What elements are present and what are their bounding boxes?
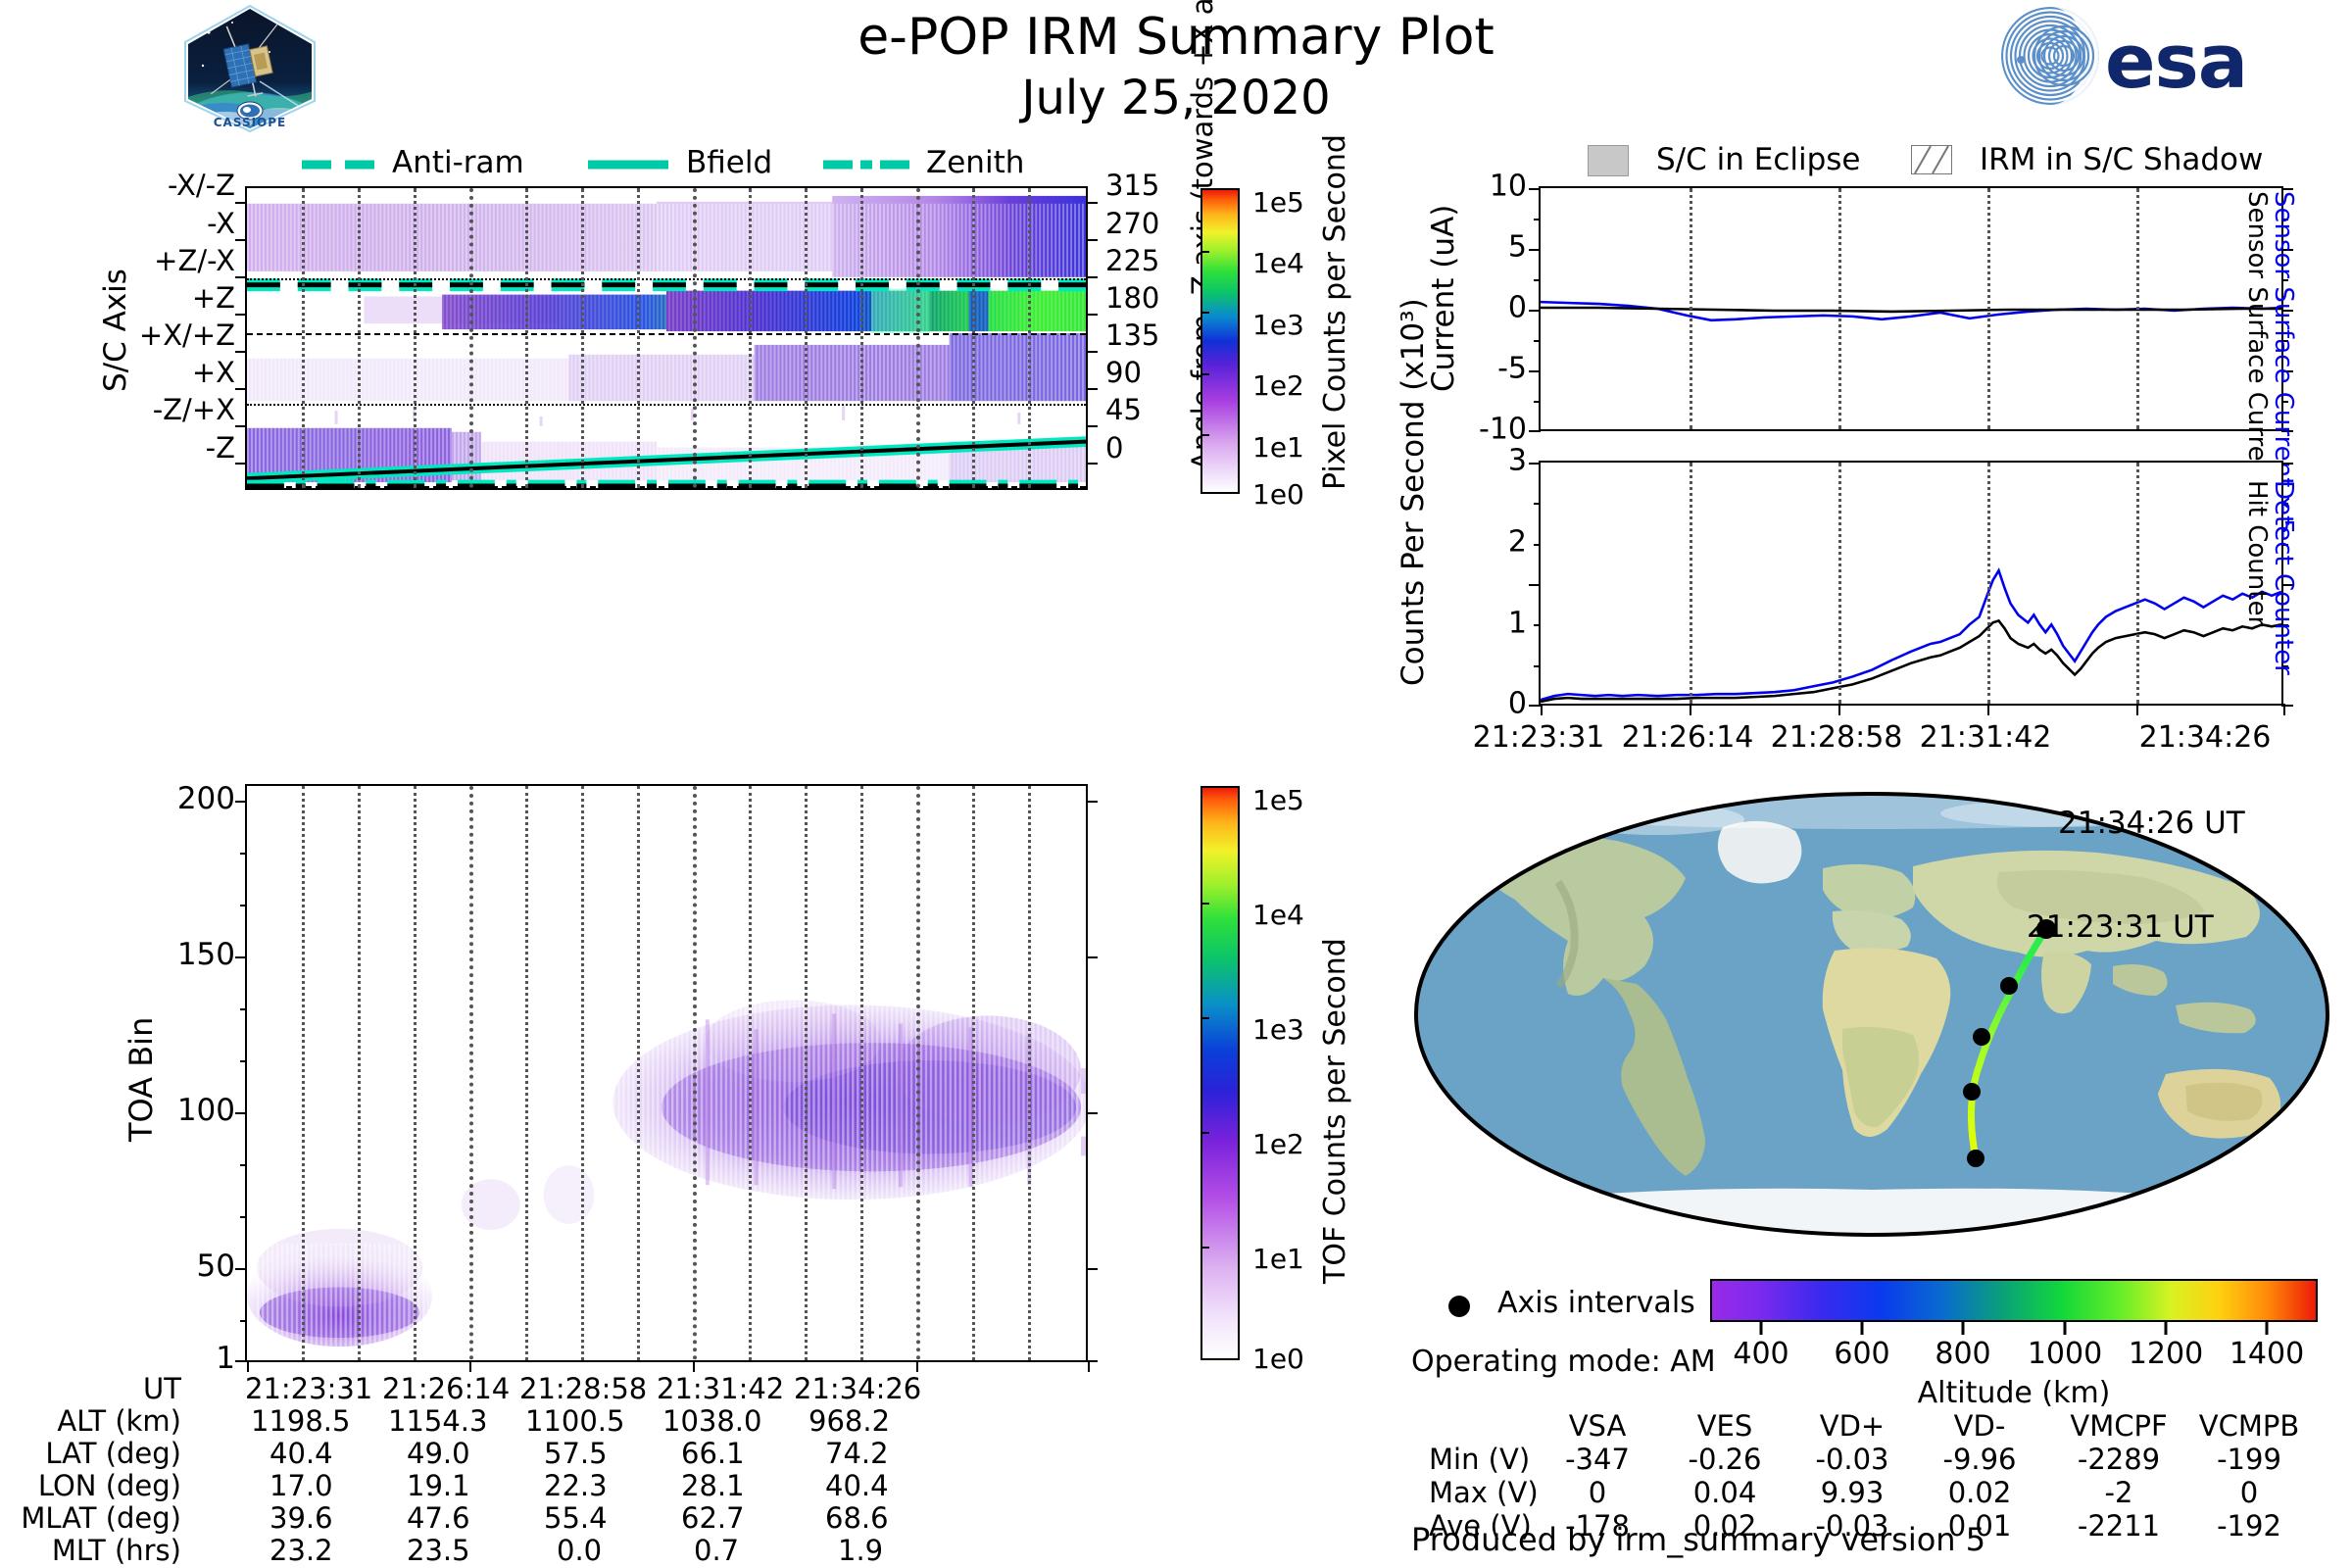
colorbar-tick: 600 (1834, 1337, 1889, 1371)
ytick-label: -X/-Z (168, 169, 235, 202)
row-label: ALT (km) (57, 1404, 181, 1438)
operating-mode-label: Operating mode: AM (1411, 1345, 1716, 1379)
colorbar-tick: 1e1 (1252, 431, 1304, 464)
table-cell: 0.7 (694, 1534, 739, 1567)
xtick-label: 21:26:14 (1622, 720, 1754, 755)
colorbar-tick: 400 (1733, 1337, 1788, 1371)
column-header: VES (1697, 1409, 1753, 1443)
table-cell: 21:34:26 (794, 1372, 921, 1405)
table-cell: 40.4 (269, 1437, 333, 1470)
counts-traces (1541, 463, 2281, 704)
table-cell: 49.0 (407, 1437, 470, 1470)
table-cell: 1038.0 (662, 1404, 761, 1438)
table-cell: 62.7 (681, 1501, 745, 1535)
counts-ylabel: Counts Per Second (x10³) (1396, 298, 1432, 686)
legend-label-zenith: Zenith (926, 145, 1024, 180)
altitude-colorbar-label: Altitude (km) (1918, 1376, 2111, 1410)
colorbar-tick: 1200 (2129, 1337, 2203, 1371)
table-cell: 23.5 (407, 1534, 470, 1567)
table-cell: -9.96 (1942, 1443, 2016, 1476)
row-label: MLAT (deg) (21, 1501, 181, 1535)
colorbar-tick: 1e4 (1252, 899, 1304, 931)
gridline-v (414, 188, 416, 488)
legend-label-bfield: Bfield (686, 145, 772, 180)
toa-bin-spectrogram[interactable] (245, 784, 1088, 1362)
esa-logo: esa (1999, 5, 2332, 108)
row-label: Min (V) (1429, 1443, 1530, 1476)
ytick-label: +Z/-X (154, 244, 235, 277)
ytick-label: 100 (177, 1093, 235, 1128)
row-label: MLT (hrs) (52, 1534, 181, 1567)
toa-ylabel: TOA Bin (122, 1017, 160, 1142)
altitude-colorbar[interactable] (1710, 1279, 2318, 1322)
table-cell: 28.1 (681, 1469, 745, 1502)
gridline-v (749, 188, 752, 488)
table-cell: -2289 (2078, 1443, 2160, 1476)
table-cell: 968.2 (808, 1404, 890, 1438)
gridline-h (247, 333, 1086, 335)
pixel-counts-spectrogram[interactable] (245, 186, 1088, 490)
svg-text:CASSIOPE: CASSIOPE (214, 116, 287, 129)
colorbar-tick: 800 (1935, 1337, 1990, 1371)
table-cell: -347 (1565, 1443, 1630, 1476)
table-cell: 68.6 (825, 1501, 889, 1535)
colorbar-tick: 1e5 (1252, 186, 1304, 219)
gridline-v (525, 188, 528, 488)
axis-interval-marker-icon (1448, 1296, 1470, 1317)
gridline-h (247, 486, 1086, 488)
colorbar-tick: 1000 (2028, 1337, 2102, 1371)
ytick-label: 1 (1508, 607, 1527, 641)
pixel-counts-colorbar[interactable] (1200, 188, 1240, 494)
toa-data (247, 786, 1086, 1360)
table-cell: 0 (2240, 1476, 2258, 1509)
table-cell: 0.02 (1948, 1476, 2012, 1509)
table-cell: 21:26:14 (382, 1372, 510, 1405)
colorbar-tick: 1e0 (1252, 478, 1304, 511)
legend-label-eclipse: S/C in Eclipse (1656, 142, 1861, 177)
colorbar-tick: 1e3 (1252, 309, 1304, 341)
ytick-label: 2 (1508, 525, 1527, 560)
xtick-label: 21:31:42 (1920, 720, 2052, 755)
table-cell: 19.1 (407, 1469, 470, 1502)
xtick-label: 21:28:58 (1771, 720, 1903, 755)
ytick-label: -Z/+X (153, 393, 235, 426)
ytick-label: -10 (1479, 413, 1527, 447)
colorbar-tick: 1400 (2229, 1337, 2304, 1371)
gridline-v (805, 188, 808, 488)
ytick-label-angle: 270 (1105, 207, 1159, 240)
gridline-h (247, 278, 1086, 280)
counts-rlabel-black: Hit Counter (2242, 480, 2272, 626)
altitude-colorbar-ticks (1710, 1322, 2318, 1336)
gridline-v (972, 188, 975, 488)
table-cell: 74.2 (825, 1437, 889, 1470)
gridline-major (469, 188, 473, 488)
colorbar-tick: 1e5 (1252, 784, 1304, 816)
column-header: VCMPB (2199, 1409, 2300, 1443)
ytick-label: 5 (1508, 230, 1527, 265)
column-header: VD- (1954, 1409, 2006, 1443)
svg-text:esa: esa (2105, 18, 2247, 105)
tof-colorbar-label: TOF Counts per Second (1318, 938, 1352, 1284)
ytick-label-angle: 0 (1105, 431, 1123, 465)
page-subtitle: July 25, 2020 (1021, 71, 1330, 125)
ytick-label-angle: 225 (1105, 244, 1159, 277)
map-label-start: 21:23:31 UT (2027, 909, 2214, 945)
current-traces (1541, 188, 2281, 429)
ytick-label: -Z (206, 431, 235, 465)
table-cell: -199 (2217, 1443, 2281, 1476)
gridline-v (302, 188, 305, 488)
ytick-label-angle: 315 (1105, 169, 1159, 202)
spectrogram-data (247, 188, 1086, 488)
column-header: VSA (1569, 1409, 1627, 1443)
table-cell: 17.0 (269, 1469, 333, 1502)
colorbar-tick: 1e0 (1252, 1343, 1304, 1375)
colorbar-tick: 1e2 (1252, 1128, 1304, 1160)
ytick-label: +X (192, 356, 235, 389)
row-label: Max (V) (1429, 1476, 1539, 1509)
table-cell: 1.9 (838, 1534, 883, 1567)
table-cell: -192 (2217, 1509, 2281, 1543)
xtick-label: 21:34:26 (2139, 720, 2272, 755)
shadow-swatch (1911, 145, 1952, 174)
gridline-v (1028, 188, 1031, 488)
spectrogram-ylabel-left: S/C Axis (98, 269, 133, 392)
table-cell: 9.93 (1821, 1476, 1885, 1509)
table-cell: 0.0 (557, 1534, 602, 1567)
ytick-label: 3 (1508, 444, 1527, 478)
ytick-label-angle: 45 (1105, 393, 1142, 426)
cassiope-mission-patch: CASSIOPE (181, 5, 318, 132)
table-cell: -2211 (2078, 1509, 2160, 1543)
counts-rlabel-blue: Detect Counter (2269, 480, 2298, 675)
ytick-label-angle: 180 (1105, 281, 1159, 315)
column-header: VMCPF (2070, 1409, 2167, 1443)
gridline-major (916, 188, 920, 488)
ytick-label: 0 (1508, 291, 1527, 325)
gridline-v (637, 188, 640, 488)
table-cell: 66.1 (681, 1437, 745, 1470)
ytick-label: 50 (197, 1249, 235, 1284)
ytick-label: -X (207, 207, 235, 240)
gridline-v (860, 188, 863, 488)
pixel-counts-colorbar-label: Pixel Counts per Second (1318, 134, 1352, 490)
sensor-surface-current-plot[interactable] (1539, 186, 2283, 431)
xtick-label: 21:23:31 (1473, 720, 1605, 755)
page-title: e-POP IRM Summary Plot (857, 8, 1494, 67)
colorbar-tick: 1e1 (1252, 1243, 1304, 1275)
gridline-v (358, 188, 361, 488)
current-rlabel-black: Sensor Surface Current (2242, 191, 2272, 487)
ytick-label-angle: 90 (1105, 356, 1142, 389)
row-label: LAT (deg) (45, 1437, 181, 1470)
table-cell: 39.6 (269, 1501, 333, 1535)
gridline-h (247, 404, 1086, 406)
ytick-label: 10 (1490, 170, 1527, 204)
map-legend-label: Axis intervals (1497, 1286, 1695, 1320)
ytick-label: 150 (177, 937, 235, 972)
voltage-statistics-table: VSA VES VD+ VD- VMCPF VCMPB Min (V) Max … (1411, 1409, 2332, 1517)
table-cell: 57.5 (544, 1437, 608, 1470)
map-label-end: 21:34:26 UT (2058, 806, 2245, 841)
table-cell: 47.6 (407, 1501, 470, 1535)
table-cell: 40.4 (825, 1469, 889, 1502)
eclipse-swatch (1588, 145, 1629, 176)
ytick-label: 1 (216, 1341, 235, 1376)
table-cell: 0 (1589, 1476, 1606, 1509)
legend-label-anti-ram: Anti-ram (392, 145, 524, 180)
table-cell: -2 (2105, 1476, 2133, 1509)
ytick-label: 0 (1508, 687, 1527, 721)
ytick-label: +Z (192, 281, 235, 315)
legend-label-shadow: IRM in S/C Shadow (1980, 142, 2263, 177)
table-cell: -0.03 (1815, 1443, 1888, 1476)
table-cell: 22.3 (544, 1469, 608, 1502)
ytick-label: -5 (1497, 352, 1527, 386)
table-cell: 21:28:58 (519, 1372, 647, 1405)
table-cell: 21:23:31 (245, 1372, 372, 1405)
ytick-label: 200 (177, 781, 235, 816)
ephemeris-table: UT ALT (km) LAT (deg) LON (deg) MLAT (de… (59, 1372, 1196, 1568)
column-header: VD+ (1820, 1409, 1885, 1443)
orbit-ground-track-map[interactable] (1411, 784, 2332, 1245)
tof-counts-colorbar[interactable] (1200, 786, 1240, 1360)
table-cell: 1100.5 (525, 1404, 624, 1438)
counts-per-second-plot[interactable] (1539, 461, 2283, 706)
colorbar-tick: 1e4 (1252, 247, 1304, 279)
table-cell: 21:31:42 (657, 1372, 784, 1405)
table-cell: 1198.5 (251, 1404, 350, 1438)
table-cell: 55.4 (544, 1501, 608, 1535)
row-label: LON (deg) (38, 1469, 181, 1502)
colorbar-tick: 1e2 (1252, 369, 1304, 402)
footer-produced-by: Produced by irm_summary version 5 (1411, 1521, 1985, 1558)
ytick-label: +X/+Z (139, 318, 235, 352)
table-cell: 0.04 (1693, 1476, 1757, 1509)
colorbar-tick: 1e3 (1252, 1013, 1304, 1046)
table-cell: 1154.3 (388, 1404, 487, 1438)
gridline-major (693, 188, 697, 488)
table-cell: 23.2 (269, 1534, 333, 1567)
gridline-v (581, 188, 584, 488)
ytick-label-angle: 135 (1105, 318, 1159, 352)
table-cell: -0.26 (1688, 1443, 1761, 1476)
row-label: UT (143, 1372, 181, 1405)
